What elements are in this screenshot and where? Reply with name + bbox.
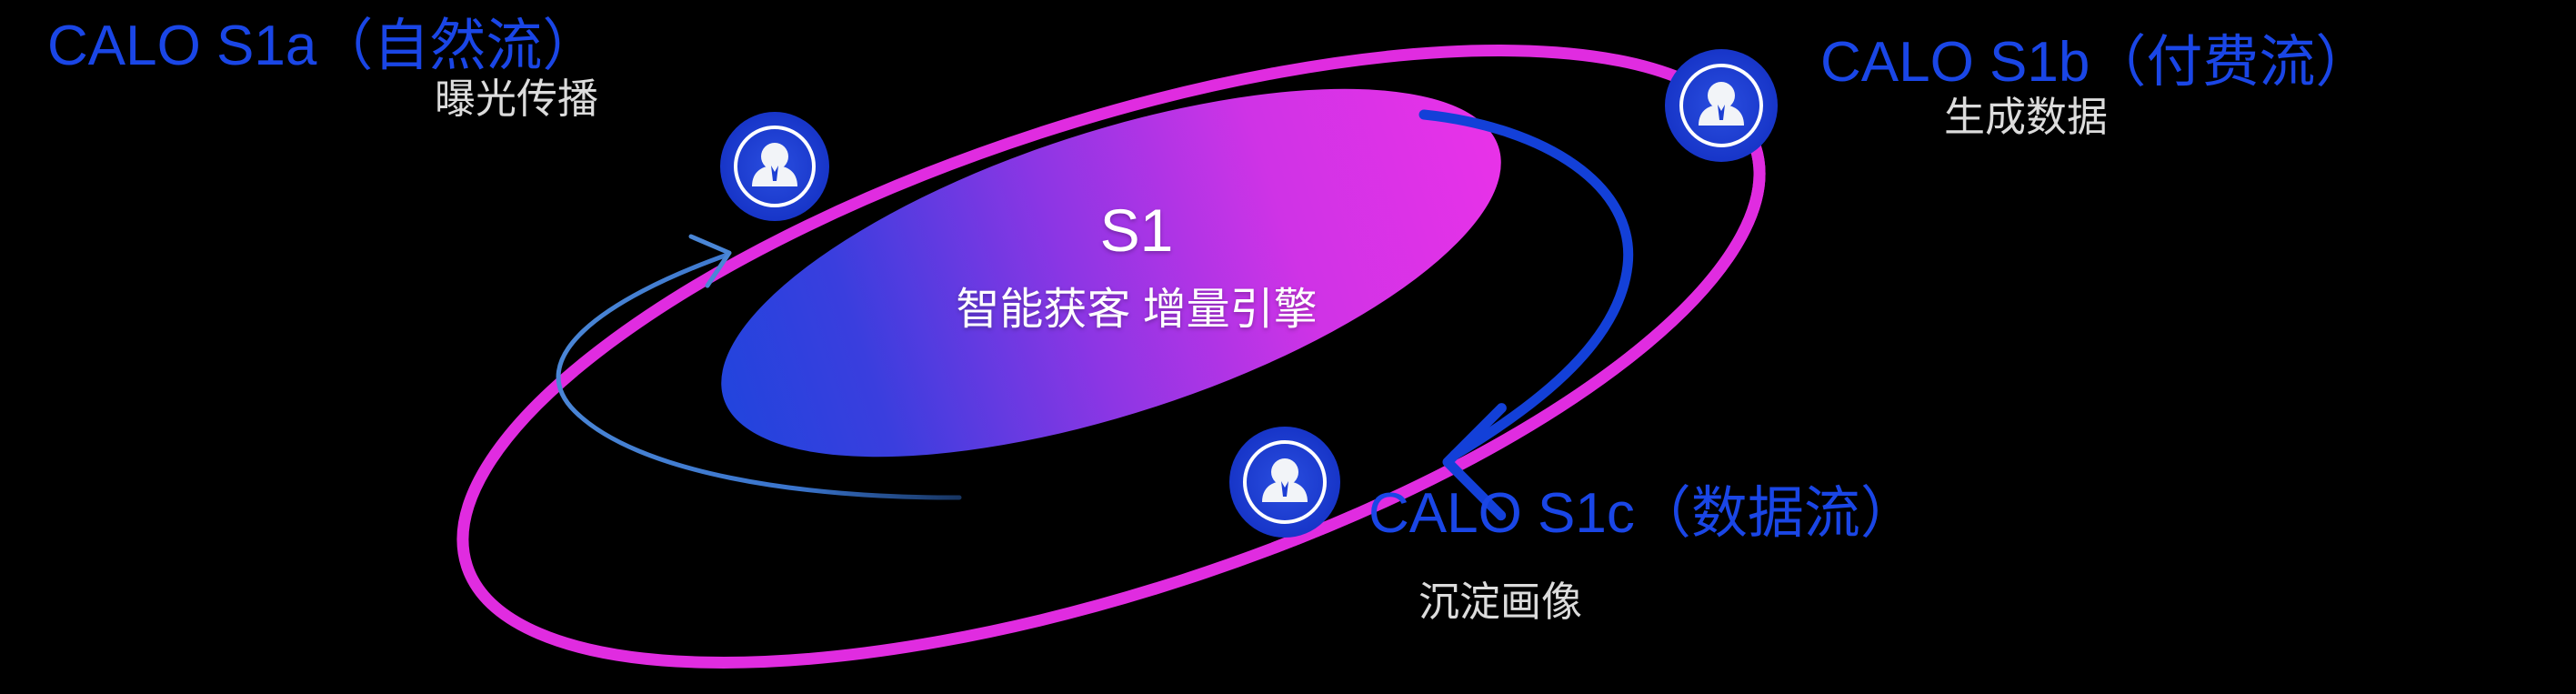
label-s1b-subtitle: 生成数据 — [1944, 96, 2108, 138]
label-s1a-title: CALO S1a（自然流） — [47, 16, 598, 75]
node-s1c[interactable] — [1229, 427, 1340, 538]
label-s1a-subtitle: 曝光传播 — [435, 77, 598, 120]
core-ellipse — [680, 13, 1542, 533]
label-s1b-title: CALO S1b（付费流） — [1820, 33, 2371, 92]
label-s1c-subtitle: 沉淀画像 — [1418, 580, 1582, 623]
label-s1c-title: CALO S1c（数据流） — [1368, 484, 1917, 543]
node-s1b[interactable] — [1665, 49, 1778, 162]
node-s1a[interactable] — [720, 112, 829, 221]
diagram-canvas: S1 智能获客 增量引擎 CALO S1a（自然流） 曝光传播 CALO S1b… — [0, 0, 2576, 694]
diagram-artwork — [0, 0, 2576, 694]
